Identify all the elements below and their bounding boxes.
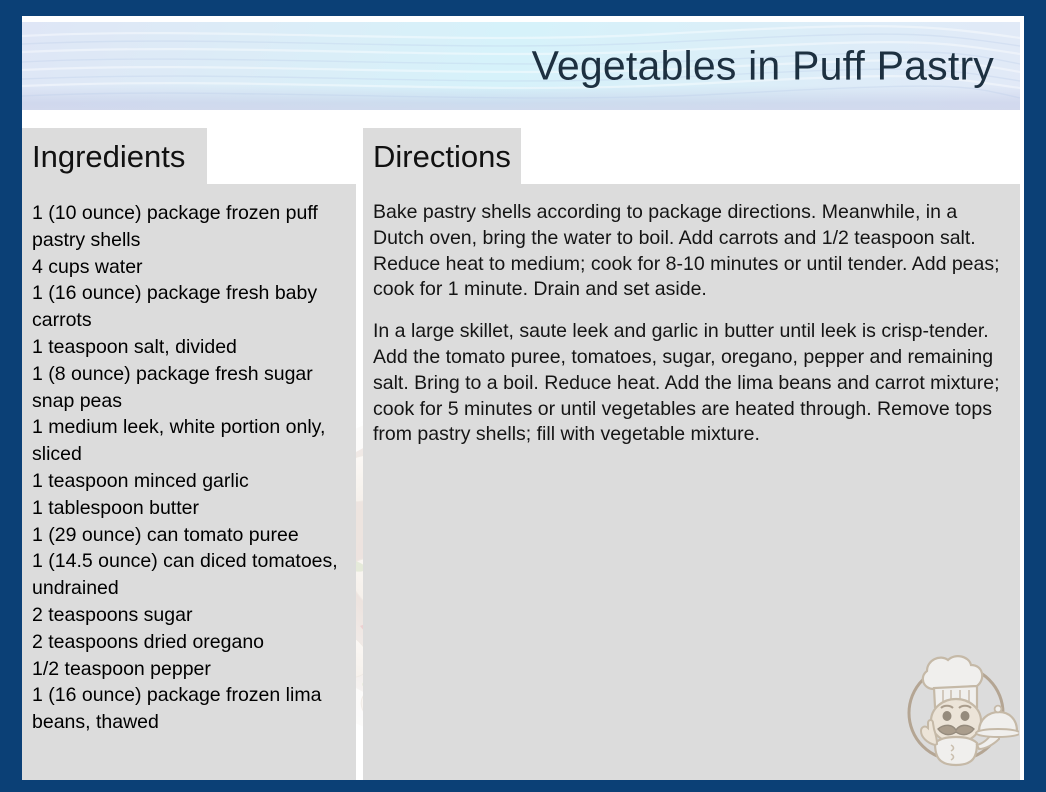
directions-paragraph: In a large skillet, saute leek and garli… bbox=[373, 319, 1006, 448]
ingredient-item: 1/2 teaspoon pepper bbox=[32, 656, 342, 683]
ingredient-item: 1 (8 ounce) package fresh sugar snap pea… bbox=[32, 361, 342, 415]
ingredient-item: 4 cups water bbox=[32, 254, 342, 281]
cloche-icon bbox=[976, 706, 1019, 737]
ingredient-item: 1 (29 ounce) can tomato puree bbox=[32, 522, 342, 549]
ingredient-item: 1 tablespoon butter bbox=[32, 495, 342, 522]
ingredient-item: 1 (16 ounce) package frozen lima beans, … bbox=[32, 682, 342, 736]
ingredients-heading: Ingredients bbox=[22, 128, 207, 184]
ingredient-item: 1 medium leek, white portion only, slice… bbox=[32, 414, 342, 468]
ingredients-list: 1 (10 ounce) package frozen puff pastry … bbox=[32, 200, 342, 736]
ingredient-item: 1 (14.5 ounce) can diced tomatoes, undra… bbox=[32, 548, 342, 602]
title-banner: Vegetables in Puff Pastry bbox=[22, 22, 1020, 110]
recipe-slide: Vegetables in Puff Pastry bbox=[0, 0, 1046, 792]
directions-paragraph: Bake pastry shells according to package … bbox=[373, 200, 1006, 303]
ingredient-item: 2 teaspoons sugar bbox=[32, 602, 342, 629]
ingredient-item: 1 (10 ounce) package frozen puff pastry … bbox=[32, 200, 342, 254]
ingredient-item: 1 (16 ounce) package fresh baby carrots bbox=[32, 280, 342, 334]
ingredient-item: 1 teaspoon minced garlic bbox=[32, 468, 342, 495]
directions-heading: Directions bbox=[363, 128, 521, 184]
ingredient-item: 2 teaspoons dried oregano bbox=[32, 629, 342, 656]
ingredients-panel: 1 (10 ounce) package frozen puff pastry … bbox=[22, 184, 356, 780]
page-title: Vegetables in Puff Pastry bbox=[532, 46, 994, 87]
chef-mascot-logo bbox=[893, 645, 1019, 775]
ingredient-item: 1 teaspoon salt, divided bbox=[32, 334, 342, 361]
